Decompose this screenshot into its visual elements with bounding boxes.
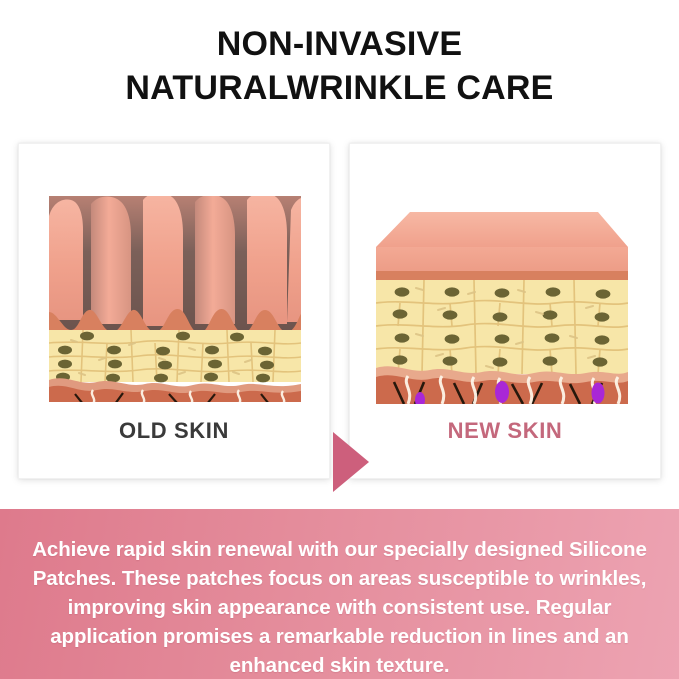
wrinkled-skin-diagram: [19, 144, 331, 412]
transition-arrow-icon: [333, 432, 369, 492]
page-title-line-2: NATURALWRINKLE CARE: [0, 66, 679, 110]
new-skin-illustration: [350, 144, 660, 412]
comparison-panels: OLD SKIN: [18, 143, 661, 481]
epidermis-smooth-slab: [376, 212, 628, 282]
epidermis-cell-layer: [49, 330, 301, 382]
page-title-line-1: NON-INVASIVE: [0, 22, 679, 66]
new-skin-card: NEW SKIN: [349, 143, 661, 479]
description-text: Achieve rapid skin renewal with our spec…: [26, 535, 653, 679]
old-skin-card: OLD SKIN: [18, 143, 330, 479]
page-title: NON-INVASIVE NATURALWRINKLE CARE: [0, 22, 679, 110]
old-skin-caption: OLD SKIN: [19, 418, 329, 444]
old-skin-illustration: [19, 144, 329, 412]
dermis-layer: [376, 366, 628, 408]
description-banner: Achieve rapid skin renewal with our spec…: [0, 509, 679, 679]
new-skin-caption: NEW SKIN: [350, 418, 660, 444]
smooth-skin-diagram: [350, 144, 662, 412]
epidermis-cell-layer: [376, 280, 628, 374]
